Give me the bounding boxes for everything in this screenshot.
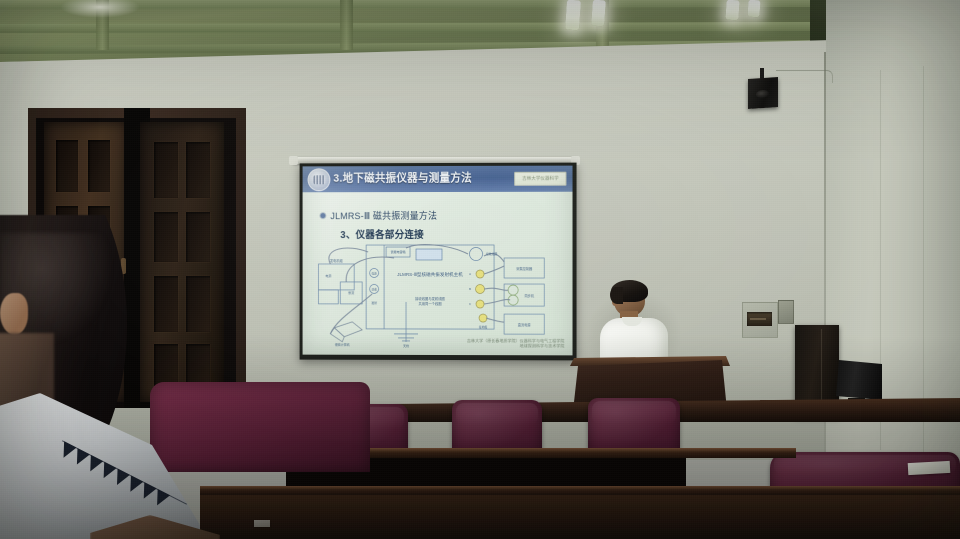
photo-scene: 3.地下磁共振仪器与测量方法 吉林大学仪器科学 JLMRS-Ⅲ 磁共振测量方法 … (0, 0, 960, 539)
slide-bullet-text: JLMRS-Ⅲ 磁共振测量方法 (330, 209, 437, 223)
diagram-node-label: 接地极 (479, 325, 488, 329)
papers (908, 461, 951, 475)
door-panel (186, 142, 210, 198)
door-panel (56, 140, 78, 192)
diagram-left-label: 整流 (348, 290, 354, 295)
slide-footer-line-2: 地球探测科学与技术学院 (467, 344, 564, 349)
diagram-receiver-label: 接收线圈 (486, 252, 497, 256)
ceiling-rib (340, 0, 353, 50)
foreground-attendee (0, 215, 230, 539)
fluorescent-tube-icon (565, 0, 581, 30)
projection-screen: 3.地下磁共振仪器与测量方法 吉林大学仪器科学 JLMRS-Ⅲ 磁共振测量方法 … (300, 163, 577, 361)
presenter (596, 283, 672, 367)
fluorescent-tube-icon (591, 0, 606, 26)
speaker-icon (748, 77, 778, 109)
slide-bullet: JLMRS-Ⅲ 磁共振测量方法 (320, 209, 437, 222)
diagram-center-sub-1: 接收线圈与发射线圈 (415, 296, 445, 301)
screen-surface: 3.地下磁共振仪器与测量方法 吉林大学仪器科学 JLMRS-Ⅲ 磁共振测量方法 … (303, 166, 573, 356)
fluorescent-tube-icon (725, 0, 739, 20)
slide-title: 3.地下磁共振仪器与测量方法 (333, 169, 472, 186)
door-panel (88, 140, 110, 192)
panel-slot-line (750, 318, 766, 320)
diagram-right-box-label: 直流电源 (518, 322, 532, 327)
diagram-antenna-label: 天线 (403, 343, 409, 348)
desk-front (200, 492, 960, 539)
desk-ledge (200, 486, 960, 495)
diagram-right-box-label: 采集控制器 (516, 266, 533, 271)
diagram-terminal-label: A (469, 272, 471, 276)
wall-seam (923, 66, 924, 456)
ceiling-beam (0, 22, 830, 33)
diagram-center-label: JLMRS-Ⅲ型核磁共振发射机主机 (397, 271, 463, 278)
diagram-terminal-label: B (469, 287, 471, 291)
roller-cap (289, 156, 298, 165)
bullet-dot-icon (320, 213, 325, 218)
computer-monitor (836, 360, 882, 400)
diagram-center-sub-2: 共用同一个线圈 (418, 301, 442, 306)
diagram-laptop-label: 便携计算机 (335, 342, 350, 347)
diagram-panel-label: 电源 (372, 271, 378, 275)
diagram-left-label: 发电机组 (330, 258, 344, 263)
diagram-top-label: 谐振电容箱 (391, 249, 406, 254)
diagram-left-label: 电源 (325, 273, 331, 278)
slide-footer: 吉林大学（原长春地质学院）仪器科学与电气工程学院 地球探测科学与技术学院 (467, 339, 564, 349)
university-seal-icon (308, 168, 331, 191)
framed-picture (778, 300, 794, 324)
fluorescent-tube-icon (747, 0, 760, 17)
speaker-cone (756, 90, 769, 99)
diagram-right-box-label: 同步机 (524, 293, 534, 298)
instrument-connection-diagram: JLMRS-Ⅲ型核磁共振发射机主机 接收线圈与发射线圈 共用同一个线圈 发电机组… (309, 242, 569, 350)
diagram-panel-label: 发射 (371, 301, 377, 305)
attendee-ear (0, 293, 28, 335)
wall-av-panel[interactable] (742, 302, 778, 338)
papers (254, 520, 270, 527)
diagram-panel-label: 调谐 (372, 287, 378, 291)
door-panel (154, 142, 178, 198)
speaker-cable (776, 70, 833, 83)
seal-core (313, 175, 325, 184)
slide-badge: 吉林大学仪器科学 (514, 172, 566, 186)
presentation-slide: 3.地下磁共振仪器与测量方法 吉林大学仪器科学 JLMRS-Ⅲ 磁共振测量方法 … (303, 166, 573, 356)
slide-badge-text: 吉林大学仪器科学 (522, 176, 559, 182)
presenter-hair-side (610, 287, 623, 304)
diagram-terminal-label: C (469, 302, 471, 306)
slide-subheading: 3、仪器各部分连接 (340, 227, 424, 242)
